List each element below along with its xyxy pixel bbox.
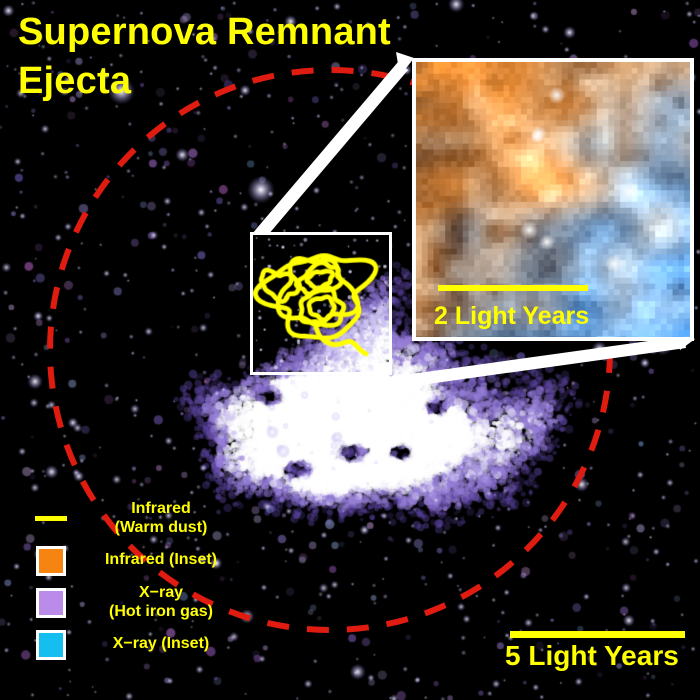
legend-infrared-warm-dust: Infrared (Warm dust) bbox=[28, 500, 248, 538]
inset-scale-label: 2 Light Years bbox=[434, 302, 589, 331]
legend-item-label: X−ray (Inset) bbox=[74, 635, 248, 654]
legend-item-label: Infrared (Inset) bbox=[74, 551, 248, 570]
inset-scale-bar bbox=[438, 285, 588, 291]
legend: Infrared (Warm dust)Infrared (Inset)X−ra… bbox=[28, 500, 248, 668]
legend-item-label: X−ray (Hot iron gas) bbox=[74, 584, 248, 622]
main-scale-bar bbox=[510, 631, 685, 638]
main-scale-label: 5 Light Years bbox=[505, 640, 679, 672]
legend-swatch-cell bbox=[28, 546, 74, 576]
source-region-box bbox=[250, 232, 392, 375]
legend-swatch-cell bbox=[28, 630, 74, 660]
legend-color-swatch bbox=[36, 630, 66, 660]
legend-color-swatch bbox=[36, 588, 66, 618]
supernova-remnant-figure: 2 Light Years Supernova Remnant Ejecta 5… bbox=[0, 0, 700, 700]
legend-swatch-cell bbox=[28, 516, 74, 521]
legend-xray-hot-iron-gas: X−ray (Hot iron gas) bbox=[28, 584, 248, 622]
legend-swatch-cell bbox=[28, 588, 74, 618]
legend-item-label: Infrared (Warm dust) bbox=[74, 500, 248, 538]
legend-color-swatch bbox=[36, 546, 66, 576]
page-title: Supernova Remnant Ejecta bbox=[18, 8, 391, 107]
legend-line-swatch bbox=[35, 516, 67, 521]
inset-panel: 2 Light Years bbox=[412, 58, 694, 341]
inset-composite-canvas bbox=[416, 62, 690, 337]
legend-infrared-inset: Infrared (Inset) bbox=[28, 544, 248, 578]
legend-xray-inset: X−ray (Inset) bbox=[28, 628, 248, 662]
infrared-contour-canvas bbox=[253, 235, 389, 372]
